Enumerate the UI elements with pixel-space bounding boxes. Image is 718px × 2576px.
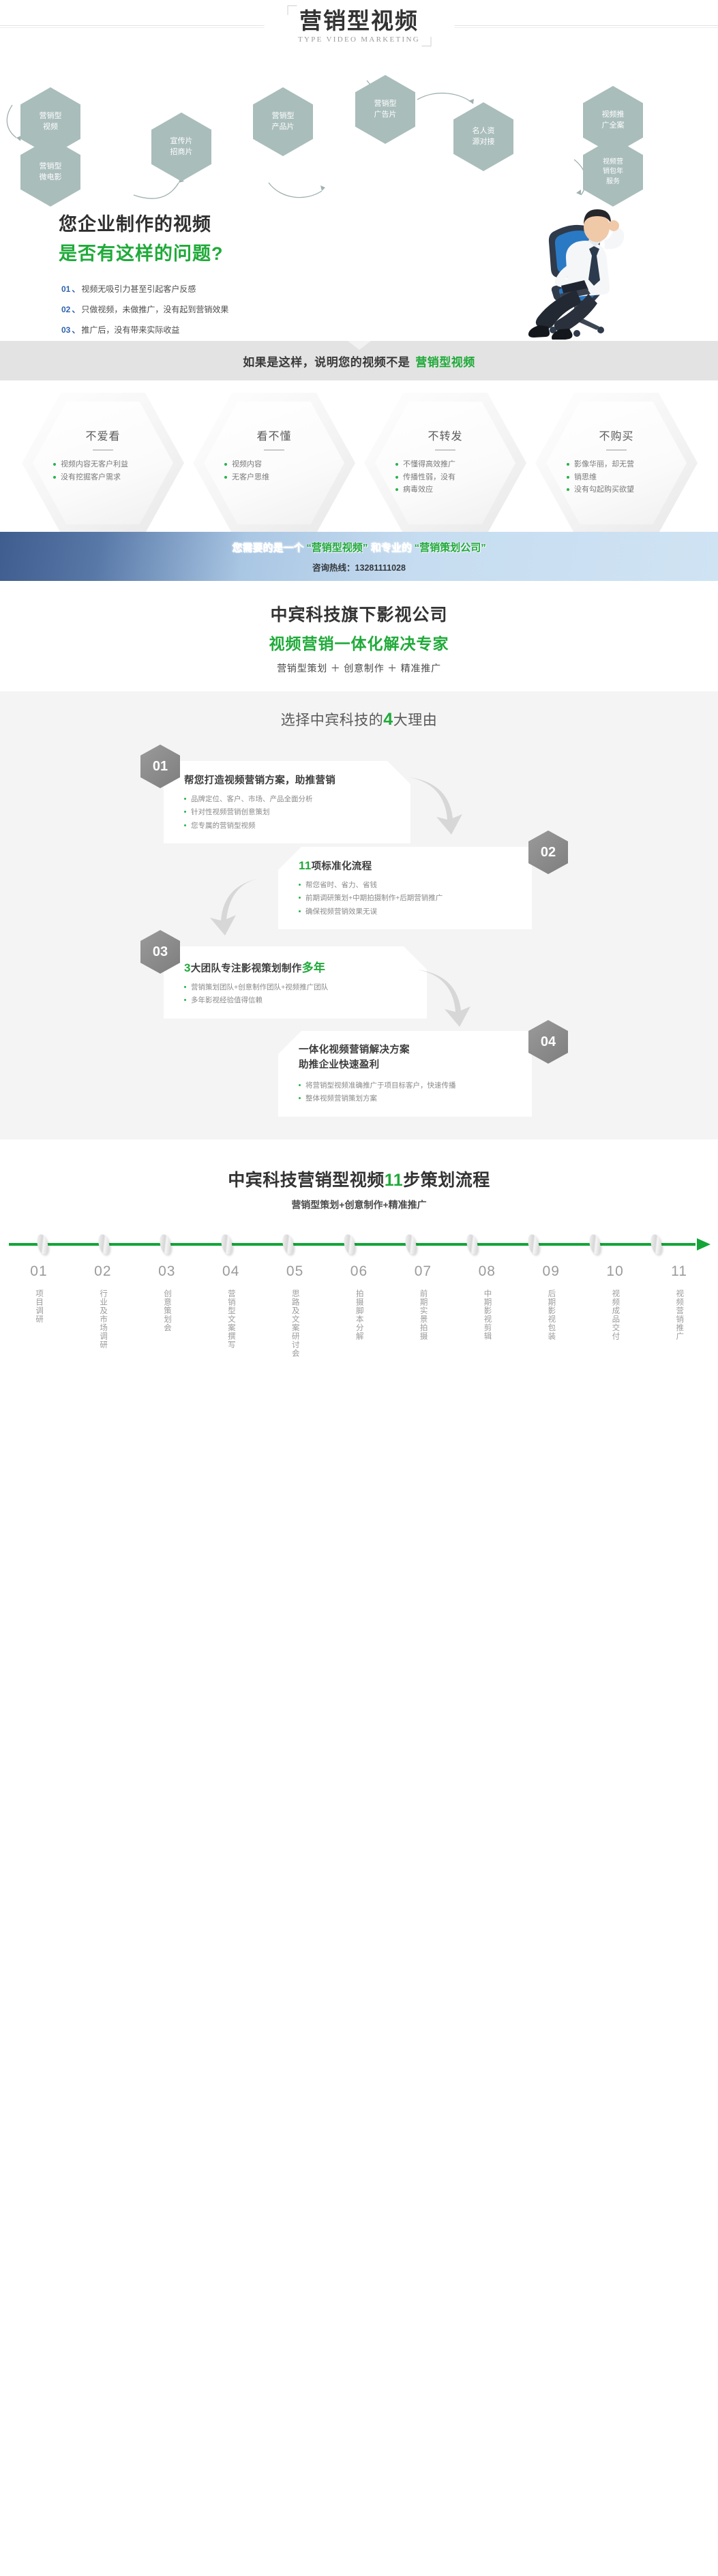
reason-bullet: 品牌定位、客户、市场、产品全面分析 xyxy=(184,793,393,806)
flow-step-5[interactable]: 05 思路及文案研讨会 xyxy=(263,1263,327,1361)
service-hex-5[interactable]: 营销型 广告片 xyxy=(355,75,415,144)
service-hex-1-line1: 营销型 xyxy=(40,112,62,120)
service-hex-7-line2: 广全案 xyxy=(602,121,625,130)
service-hex-2-line2: 微电影 xyxy=(40,173,62,181)
service-hex-4[interactable]: 营销型 产品片 xyxy=(253,87,313,156)
flow-node-11[interactable] xyxy=(649,1233,664,1256)
flow-step-8-label: 中期影视剪辑 xyxy=(479,1289,494,1341)
reason-card-4-head-2: 助推企业快速盈利 xyxy=(299,1060,379,1070)
flow-node-5[interactable] xyxy=(281,1233,296,1256)
eleven-step-flow-section: 中宾科技营销型视频11步策划流程 营销型策划+创意制作+精准推广 01 项目调研 xyxy=(0,1139,718,1381)
flow-node-10[interactable] xyxy=(588,1233,603,1256)
flow-step-10-number: 10 xyxy=(583,1263,647,1280)
problem-hex-2-list: 视频内容 无客户思维 xyxy=(204,458,344,483)
reason-card-1-head: 帮您打造视频营销方案，助推营销 xyxy=(184,775,335,786)
reason-bullet: 确保视频营销效果无误 xyxy=(299,905,514,918)
problem-bullet: 没有挖掘客户需求 xyxy=(53,471,173,484)
flow-title-number: 11 xyxy=(385,1171,403,1190)
service-hex-6-line1: 名人资 xyxy=(473,127,495,135)
question-item-sep: 、 xyxy=(72,283,80,295)
flow-step-6[interactable]: 06 拍摄脚本分解 xyxy=(327,1263,391,1361)
reason-card-1[interactable]: 帮您打造视频营销方案，助推营销 品牌定位、客户、市场、产品全面分析 针对性视频营… xyxy=(164,761,410,843)
reason-bullet: 多年影视经验值得信赖 xyxy=(184,994,409,1007)
reason-card-3-head: 大团队专注影视策划制作 xyxy=(191,963,302,974)
reason-bullet: 您专属的营销型视频 xyxy=(184,820,393,833)
service-hex-8-line1: 视频营 xyxy=(603,158,623,166)
flow-step-1[interactable]: 01 项目调研 xyxy=(7,1263,71,1361)
reason-card-4-heading: 一体化视频营销解决方案 助推企业快速盈利 xyxy=(299,1043,514,1073)
flow-step-1-number: 01 xyxy=(7,1263,71,1280)
flow-title: 中宾科技营销型视频11步策划流程 xyxy=(0,1167,718,1191)
flow-step-9[interactable]: 09 后期影视包装 xyxy=(519,1263,583,1361)
problem-hex-4[interactable]: 不购买 影像华丽，却无营 销思维 没有勾起购买欲望 xyxy=(535,393,698,533)
intro-line-2: 视频营销一体化解决专家 xyxy=(0,631,718,654)
marketing-video-landing-page: 营销型视频 TYPE VIDEO MARKETING xyxy=(0,0,718,1381)
reason-badge-2: 02 xyxy=(528,830,568,874)
service-hex-2[interactable]: 营销型 微电影 xyxy=(20,138,80,207)
hotline-text: 咨询热线：13281111028 xyxy=(312,560,406,573)
flow-step-9-label: 后期影视包装 xyxy=(543,1289,558,1341)
flow-node-4[interactable] xyxy=(220,1233,235,1256)
problem-hex-3[interactable]: 不转发 不懂得高效推广 传播性弱，没有 病毒效应 xyxy=(364,393,526,533)
service-hex-3-line1: 宣传片 xyxy=(170,137,193,145)
service-hex-2-line1: 营销型 xyxy=(40,162,62,170)
flow-step-8-number: 08 xyxy=(455,1263,519,1280)
blue-banner-middle: 和专业的 xyxy=(371,542,412,554)
problem-hex-4-title: 不购买 xyxy=(546,427,687,443)
reason-card-4-head: 一体化视频营销解决方案 xyxy=(299,1045,410,1055)
service-hex-4-line1: 营销型 xyxy=(272,112,295,120)
reason-card-1-heading: 帮您打造视频营销方案，助推营销 xyxy=(184,773,393,787)
page-title: 营销型视频 xyxy=(298,10,420,33)
flow-title-pre: 中宾科技营销型视频 xyxy=(228,1171,385,1190)
problem-hex-1[interactable]: 不爱看 视频内容无客户利益 没有挖掘客户需求 xyxy=(22,393,184,533)
problem-hex-3-list: 不懂得高效推广 传播性弱，没有 病毒效应 xyxy=(375,458,515,496)
problem-hex-4-divider xyxy=(606,449,627,451)
flow-step-1-label: 项目调研 xyxy=(31,1289,46,1323)
question-item-number: 01 xyxy=(61,284,70,294)
service-hex-8[interactable]: 视频营 销包年 服务 xyxy=(583,138,643,207)
problem-bullet-cont: 销思维 xyxy=(567,471,687,484)
reason-card-2-head: 项标准化流程 xyxy=(312,861,372,872)
question-item-sep: 、 xyxy=(72,303,80,315)
problem-hex-1-list: 视频内容无客户利益 没有挖掘客户需求 xyxy=(33,458,173,483)
problem-hex-2-title: 看不懂 xyxy=(204,427,344,443)
problem-hex-4-list: 影像华丽，却无营 销思维 没有勾起购买欲望 xyxy=(546,458,687,496)
intro-line-3: 营销型策划 ＋ 创意制作 ＋ 精准推广 xyxy=(0,661,718,675)
reason-card-2-head-number: 11 xyxy=(299,859,312,872)
blue-cta-banner: 您需要的是一个 “营销型视频” 和专业的 “营销策划公司” 咨询热线：13281… xyxy=(0,532,718,581)
flow-step-3-label: 创意策划会 xyxy=(160,1289,175,1332)
reasons-title-pre: 选择中宾科技的 xyxy=(281,713,384,728)
flow-step-7-label: 前期实景拍摄 xyxy=(415,1289,430,1341)
reason-bullet: 整体视频营销策划方案 xyxy=(299,1092,514,1105)
flow-step-2[interactable]: 02 行业及市场调研 xyxy=(71,1263,135,1361)
flow-step-2-number: 02 xyxy=(71,1263,135,1280)
problem-bullet: 不懂得高效推广 xyxy=(395,458,515,471)
reason-bullet: 针对性视频营销创意策划 xyxy=(184,806,393,819)
four-reasons-title: 选择中宾科技的4大理由 xyxy=(0,709,718,730)
intro-line-1: 中宾科技旗下影视公司 xyxy=(0,601,718,626)
blue-banner-quote-1: “营销型视频” xyxy=(306,542,368,554)
flow-step-11-label: 视频营销推广 xyxy=(672,1289,687,1341)
reason-card-3-heading: 3大团队专注影视策划制作多年 xyxy=(184,958,409,975)
problem-hex-1-divider xyxy=(93,449,113,451)
service-hex-1-line2: 视频 xyxy=(43,123,58,131)
flow-step-2-label: 行业及市场调研 xyxy=(95,1289,110,1349)
flow-node-3[interactable] xyxy=(158,1233,173,1256)
reason-card-3-head-number: 3 xyxy=(184,961,191,974)
blue-banner-headline: 您需要的是一个 “营销型视频” 和专业的 “营销策划公司” xyxy=(232,540,486,554)
flow-arrow-icon xyxy=(697,1238,710,1250)
question-section: 您企业制作的视频 是否有这样的问题? 01 、 视频无吸引力甚至引起客户反感 0… xyxy=(0,201,718,341)
page-subtitle: TYPE VIDEO MARKETING xyxy=(298,35,420,44)
problem-bullet: 无客户思维 xyxy=(224,471,344,484)
businessman-illustration xyxy=(474,207,678,340)
question-item-number: 03 xyxy=(61,325,70,335)
service-hex-7-line1: 视频推 xyxy=(602,110,625,119)
problem-hex-1-title: 不爱看 xyxy=(33,427,173,443)
hero-title-block: 营销型视频 TYPE VIDEO MARKETING xyxy=(264,5,454,46)
flow-step-9-number: 09 xyxy=(519,1263,583,1280)
reason-card-4-list: 将营销型视频准确推广于项目标客户，快速传播 整体视频营销策划方案 xyxy=(299,1079,514,1106)
service-hex-5-line1: 营销型 xyxy=(374,100,397,108)
blue-banner-quote-2: “营销策划公司” xyxy=(415,542,486,554)
problem-hex-row: 不爱看 视频内容无客户利益 没有挖掘客户需求 看不懂 视频内容 无客户思维 不转… xyxy=(0,393,718,522)
reason-bullet: 前期调研策划+中期拍摄制作+后期营销推广 xyxy=(299,892,514,905)
reason-badge-4: 04 xyxy=(528,1020,568,1064)
flow-step-5-number: 05 xyxy=(263,1263,327,1280)
reasons-title-number: 4 xyxy=(383,710,393,729)
question-item-number: 02 xyxy=(61,305,70,314)
hero-corner-brackets: 营销型视频 TYPE VIDEO MARKETING xyxy=(287,5,431,46)
service-hex-8-line3: 服务 xyxy=(606,178,620,185)
flow-step-5-label: 思路及文案研讨会 xyxy=(287,1289,302,1358)
flow-title-post: 步策划流程 xyxy=(403,1171,490,1190)
flow-timeline-track xyxy=(5,1232,713,1255)
reason-card-4[interactable]: 一体化视频营销解决方案 助推企业快速盈利 将营销型视频准确推广于项目标客户，快速… xyxy=(278,1031,532,1117)
reason-card-3-list: 营销策划团队+创意制作团队+视频推广团队 多年影视经验值得信赖 xyxy=(184,981,409,1008)
service-hex-3-line2: 招商片 xyxy=(170,148,193,156)
service-hex-map: 营销型 视频 营销型 微电影 宣传片 招商片 营销型 产品片 营销型 xyxy=(0,75,718,201)
flow-subtitle: 营销型策划+创意制作+精准推广 xyxy=(0,1198,718,1212)
flow-node-1[interactable] xyxy=(35,1233,50,1256)
reasons-title-post: 大理由 xyxy=(393,713,438,728)
question-item-text: 推广后，没有带来实际收益 xyxy=(81,324,179,335)
problem-hex-2-divider xyxy=(264,449,284,451)
four-reasons-section: 选择中宾科技的4大理由 01 帮您打造视频营销方案，助推营销 品牌定位、客户、市… xyxy=(0,691,718,1139)
gray-banner-text: 如果是这样，说明您的视频不是 xyxy=(243,353,410,370)
service-hex-6[interactable]: 名人资 源对接 xyxy=(453,102,513,171)
gray-callout-banner: 如果是这样，说明您的视频不是 营销型视频 xyxy=(0,341,718,380)
service-hex-5-line2: 广告片 xyxy=(374,110,397,119)
service-hex-8-line2: 销包年 xyxy=(603,168,623,175)
problem-bullet: 影像华丽，却无营 xyxy=(567,458,687,471)
problem-hex-2[interactable]: 看不懂 视频内容 无客户思维 xyxy=(193,393,355,533)
service-hex-4-line2: 产品片 xyxy=(272,123,295,131)
question-item-sep: 、 xyxy=(72,324,80,335)
problem-bullet: 传播性弱，没有 xyxy=(395,471,515,484)
flow-step-4-number: 04 xyxy=(199,1263,263,1280)
flow-step-4[interactable]: 04 营销型文案撰写 xyxy=(199,1263,263,1361)
reason-card-2[interactable]: 11项标准化流程 帮您省时、省力、省钱 前期调研策划+中期拍摄制作+后期营销推广… xyxy=(278,847,532,929)
reason-card-3[interactable]: 3大团队专注影视策划制作多年 营销策划团队+创意制作团队+视频推广团队 多年影视… xyxy=(164,946,427,1019)
problem-hex-3-title: 不转发 xyxy=(375,427,515,443)
reason-card-3-head-tail: 多年 xyxy=(302,961,326,974)
flow-step-7[interactable]: 07 前期实景拍摄 xyxy=(391,1263,455,1361)
reason-card-2-list: 帮您省时、省力、省钱 前期调研策划+中期拍摄制作+后期营销推广 确保视频营销效果… xyxy=(299,879,514,918)
flow-step-6-label: 拍摄脚本分解 xyxy=(351,1289,366,1341)
flow-step-10-label: 视频成品交付 xyxy=(608,1289,623,1341)
reason-card-2-heading: 11项标准化流程 xyxy=(299,858,514,873)
flow-node-8[interactable] xyxy=(465,1233,480,1256)
question-item-text: 视频无吸引力甚至引起客户反感 xyxy=(81,283,196,295)
flow-node-9[interactable] xyxy=(526,1233,541,1256)
four-reasons-rows: 01 帮您打造视频营销方案，助推营销 品牌定位、客户、市场、产品全面分析 针对性… xyxy=(0,745,718,1116)
company-intro-section: 中宾科技旗下影视公司 视频营销一体化解决专家 营销型策划 ＋ 创意制作 ＋ 精准… xyxy=(0,581,718,691)
flow-step-11-number: 11 xyxy=(647,1263,711,1280)
flow-step-11[interactable]: 11 视频营销推广 xyxy=(647,1263,711,1361)
flow-node-7[interactable] xyxy=(404,1233,419,1256)
flow-step-7-number: 07 xyxy=(391,1263,455,1280)
problem-hex-3-divider xyxy=(435,449,455,451)
flow-step-6-number: 06 xyxy=(327,1263,391,1280)
flow-node-6[interactable] xyxy=(342,1233,357,1256)
flow-node-2[interactable] xyxy=(97,1233,112,1256)
problem-bullet-cont: 病毒效应 xyxy=(395,483,515,496)
flow-step-8[interactable]: 08 中期影视剪辑 xyxy=(455,1263,519,1361)
flow-step-columns: 01 项目调研 02 行业及市场调研 03 创意策划会 04 营销型文案撰写 0… xyxy=(0,1263,718,1361)
reason-bullet: 将营销型视频准确推广于项目标客户，快速传播 xyxy=(299,1079,514,1092)
problem-bullet: 视频内容 xyxy=(224,458,344,471)
hero-header: 营销型视频 TYPE VIDEO MARKETING xyxy=(0,0,718,75)
reason-bullet: 帮您省时、省力、省钱 xyxy=(299,879,514,892)
problem-bullet: 视频内容无客户利益 xyxy=(53,458,173,471)
gray-banner-accent: 营销型视频 xyxy=(415,353,475,370)
reason-card-1-list: 品牌定位、客户、市场、产品全面分析 针对性视频营销创意策划 您专属的营销型视频 xyxy=(184,793,393,833)
blue-banner-prefix: 您需要的是一个 xyxy=(232,542,303,554)
flow-step-4-label: 营销型文案撰写 xyxy=(223,1289,238,1349)
flow-step-10[interactable]: 10 视频成品交付 xyxy=(583,1263,647,1361)
flow-step-3[interactable]: 03 创意策划会 xyxy=(135,1263,199,1361)
problem-bullet: 没有勾起购买欲望 xyxy=(567,483,687,496)
service-hex-3[interactable]: 宣传片 招商片 xyxy=(151,113,211,181)
reason-bullet: 营销策划团队+创意制作团队+视频推广团队 xyxy=(184,981,409,994)
question-item-text: 只做视频，未做推广，没有起到营销效果 xyxy=(81,303,228,315)
service-hex-6-line2: 源对接 xyxy=(473,138,495,146)
flow-step-3-number: 03 xyxy=(135,1263,199,1280)
